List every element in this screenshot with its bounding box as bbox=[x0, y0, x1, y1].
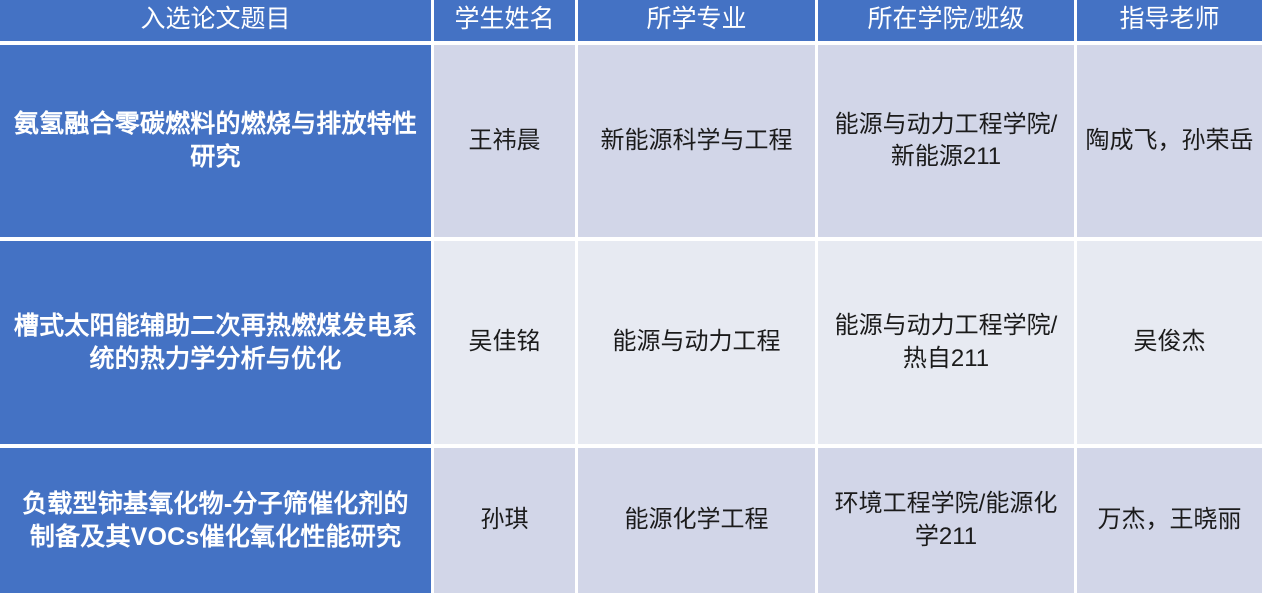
table-header: 入选论文题目 学生姓名 所学专业 所在学院/班级 指导老师 bbox=[0, 0, 1262, 45]
column-header-name: 学生姓名 bbox=[434, 0, 578, 45]
cell-college-class: 能源与动力工程学院/热自211 bbox=[818, 241, 1077, 448]
cell-major: 能源与动力工程 bbox=[578, 241, 818, 448]
cell-student-name: 孙琪 bbox=[434, 448, 578, 597]
table-row: 氨氢融合零碳燃料的燃烧与排放特性研究 王祎晨 新能源科学与工程 能源与动力工程学… bbox=[0, 45, 1262, 241]
table-body: 氨氢融合零碳燃料的燃烧与排放特性研究 王祎晨 新能源科学与工程 能源与动力工程学… bbox=[0, 45, 1262, 597]
column-header-college: 所在学院/班级 bbox=[818, 0, 1077, 45]
cell-major: 能源化学工程 bbox=[578, 448, 818, 597]
cell-paper-title: 氨氢融合零碳燃料的燃烧与排放特性研究 bbox=[0, 45, 434, 241]
paper-table-container: 入选论文题目 学生姓名 所学专业 所在学院/班级 指导老师 氨氢融合零碳燃料的燃… bbox=[0, 0, 1262, 596]
column-header-major: 所学专业 bbox=[578, 0, 818, 45]
table-row: 槽式太阳能辅助二次再热燃煤发电系统的热力学分析与优化 吴佳铭 能源与动力工程 能… bbox=[0, 241, 1262, 448]
cell-college-class: 环境工程学院/能源化学211 bbox=[818, 448, 1077, 597]
table-row: 负载型铈基氧化物-分子筛催化剂的制备及其VOCs催化氧化性能研究 孙琪 能源化学… bbox=[0, 448, 1262, 597]
cell-advisor: 陶成飞，孙荣岳 bbox=[1077, 45, 1262, 241]
header-row: 入选论文题目 学生姓名 所学专业 所在学院/班级 指导老师 bbox=[0, 0, 1262, 45]
cell-advisor: 吴俊杰 bbox=[1077, 241, 1262, 448]
cell-college-class: 能源与动力工程学院/新能源211 bbox=[818, 45, 1077, 241]
cell-student-name: 吴佳铭 bbox=[434, 241, 578, 448]
cell-student-name: 王祎晨 bbox=[434, 45, 578, 241]
selected-papers-table: 入选论文题目 学生姓名 所学专业 所在学院/班级 指导老师 氨氢融合零碳燃料的燃… bbox=[0, 0, 1262, 597]
cell-paper-title: 负载型铈基氧化物-分子筛催化剂的制备及其VOCs催化氧化性能研究 bbox=[0, 448, 434, 597]
column-header-title: 入选论文题目 bbox=[0, 0, 434, 45]
cell-advisor: 万杰，王晓丽 bbox=[1077, 448, 1262, 597]
cell-major: 新能源科学与工程 bbox=[578, 45, 818, 241]
cell-paper-title: 槽式太阳能辅助二次再热燃煤发电系统的热力学分析与优化 bbox=[0, 241, 434, 448]
column-header-teacher: 指导老师 bbox=[1077, 0, 1262, 45]
